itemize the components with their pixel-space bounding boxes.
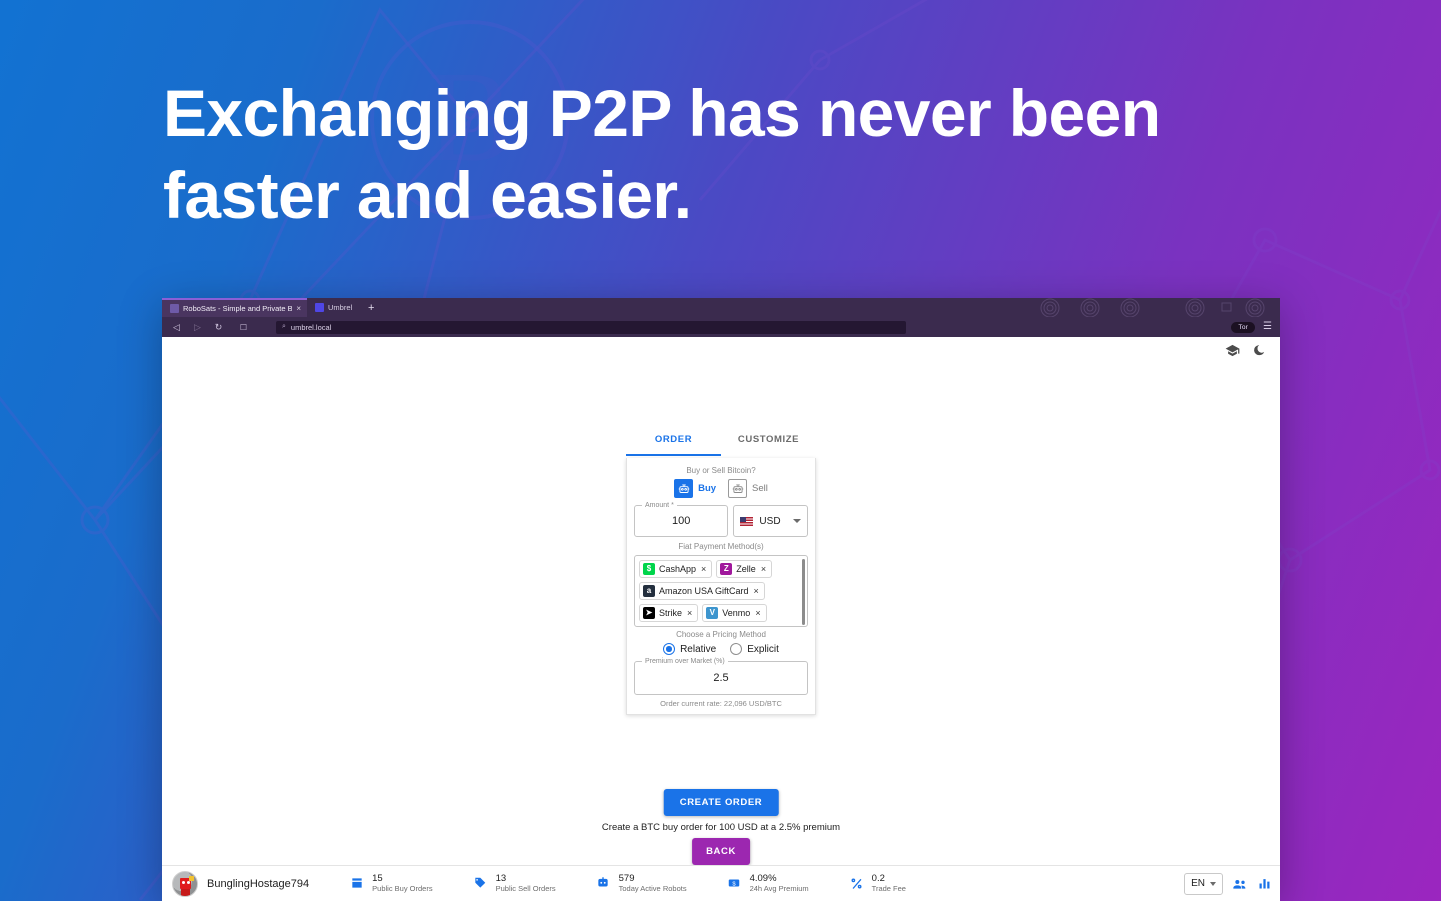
browser-tab-umbrel[interactable]: Umbrel — [307, 298, 358, 317]
new-tab-button[interactable]: + — [358, 298, 384, 317]
amount-input[interactable]: Amount * 100 — [634, 505, 728, 537]
chip-label: Zelle — [736, 564, 756, 574]
currency-value: USD — [759, 516, 780, 527]
radio-label: Relative — [680, 644, 716, 655]
radio-relative[interactable]: Relative — [663, 643, 716, 655]
venmo-icon: V — [706, 607, 718, 619]
pricing-method-radio-group: Relative Explicit — [634, 643, 808, 655]
create-order-hint: Create a BTC buy order for 100 USD at a … — [602, 822, 840, 833]
browser-tab-title: Umbrel — [328, 303, 352, 312]
tab-customize[interactable]: CUSTOMIZE — [721, 434, 816, 453]
forward-icon[interactable]: ▷ — [191, 321, 204, 334]
close-icon[interactable]: × — [296, 304, 301, 313]
payment-chip-strike[interactable]: ➤ Strike × — [639, 604, 698, 622]
browser-nav-bar: ◁ ▷ ↻ ☐ ⌕ umbrel.local Tor ☰ — [162, 317, 1280, 337]
stat-value: 0.2 — [872, 874, 906, 885]
amazon-icon: a — [643, 585, 655, 597]
stat-label: Trade Fee — [872, 885, 906, 894]
stat-avg-premium[interactable]: $ 4.09% 24h Avg Premium — [727, 874, 809, 894]
pricing-method-label: Choose a Pricing Method — [634, 630, 808, 639]
stat-active-robots[interactable]: 579 Today Active Robots — [596, 874, 687, 894]
browser-nav-right: Tor ☰ — [1231, 322, 1272, 333]
radio-explicit[interactable]: Explicit — [730, 643, 779, 655]
umbrel-favicon — [315, 303, 324, 312]
amount-row: Amount * 100 USD — [634, 505, 808, 537]
stat-public-sell-orders[interactable]: 13 Public Sell Orders — [473, 874, 556, 894]
reload-icon[interactable]: ↻ — [212, 321, 225, 334]
stat-public-buy-orders[interactable]: 15 Public Buy Orders — [349, 874, 432, 894]
chip-label: Strike — [659, 608, 682, 618]
remove-icon[interactable]: × — [761, 564, 766, 574]
chevron-down-icon — [793, 519, 801, 523]
buy-label: Buy — [698, 483, 716, 494]
sell-label: Sell — [752, 483, 768, 494]
stat-value: 13 — [496, 874, 556, 885]
app-top-icons — [1225, 343, 1266, 358]
robosats-favicon — [170, 304, 179, 313]
tor-badge[interactable]: Tor — [1231, 322, 1255, 333]
us-flag-icon — [740, 517, 753, 526]
remove-icon[interactable]: × — [754, 586, 759, 596]
radio-label: Explicit — [747, 644, 779, 655]
amount-legend: Amount * — [642, 501, 677, 510]
remove-icon[interactable]: × — [755, 608, 760, 618]
back-icon[interactable]: ◁ — [170, 321, 183, 334]
menu-icon[interactable]: ☰ — [1263, 323, 1272, 331]
hero-headline: Exchanging P2P has never been faster and… — [163, 72, 1183, 236]
stat-label: 24h Avg Premium — [750, 885, 809, 894]
window-decoration — [1030, 298, 1280, 317]
stat-label: Public Buy Orders — [372, 885, 432, 894]
stat-label: Public Sell Orders — [496, 885, 556, 894]
language-select[interactable]: EN — [1184, 873, 1223, 895]
robot-icon — [596, 876, 611, 891]
payment-chip-amazon[interactable]: a Amazon USA GiftCard × — [639, 582, 765, 600]
page-root: B Exchanging P2P has never been faster a… — [0, 0, 1441, 901]
avatar[interactable] — [172, 871, 198, 897]
back-button[interactable]: BACK — [692, 838, 750, 865]
payment-chip-zelle[interactable]: Z Zelle × — [716, 560, 772, 578]
premium-value: 2.5 — [713, 672, 728, 684]
language-value: EN — [1191, 878, 1205, 889]
buy-sell-label: Buy or Sell Bitcoin? — [634, 466, 808, 475]
remove-icon[interactable]: × — [687, 608, 692, 618]
create-order-button[interactable]: CREATE ORDER — [664, 789, 779, 816]
premium-legend: Premium over Market (%) — [642, 657, 728, 666]
strike-icon: ➤ — [643, 607, 655, 619]
buy-option[interactable]: Buy — [674, 479, 716, 498]
app-tab-bar: ORDER CUSTOMIZE — [626, 434, 816, 453]
nickname: BunglingHostage794 — [207, 878, 309, 890]
zelle-icon: Z — [720, 563, 732, 575]
premium-input[interactable]: Premium over Market (%) 2.5 — [634, 661, 808, 695]
radio-dot-icon — [730, 643, 742, 655]
radio-dot-icon — [663, 643, 675, 655]
bookmark-icon[interactable]: ☐ — [237, 321, 250, 334]
active-tab-indicator — [626, 454, 816, 456]
robot-buy-icon — [674, 479, 693, 498]
learn-icon[interactable] — [1225, 343, 1240, 358]
chip-label: Venmo — [722, 608, 750, 618]
stat-value: 579 — [619, 874, 687, 885]
book-icon — [349, 876, 364, 891]
currency-select[interactable]: USD — [733, 505, 808, 537]
price-tag-icon: $ — [727, 876, 742, 891]
percent-icon — [849, 876, 864, 891]
chip-label: Amazon USA GiftCard — [659, 586, 749, 596]
tag-icon — [473, 876, 488, 891]
payment-chip-venmo[interactable]: V Venmo × — [702, 604, 766, 622]
chip-label: CashApp — [659, 564, 696, 574]
browser-window: RoboSats - Simple and Private Bit × Umbr… — [162, 298, 1280, 901]
address-bar[interactable]: ⌕ umbrel.local — [276, 321, 906, 334]
amount-value: 100 — [672, 515, 690, 527]
browser-tab-title: RoboSats - Simple and Private Bit — [183, 304, 292, 313]
search-icon: ⌕ — [282, 323, 286, 331]
people-icon[interactable] — [1232, 876, 1248, 892]
stat-label: Today Active Robots — [619, 885, 687, 894]
status-bar: BunglingHostage794 15 Public Buy Orders — [162, 865, 1280, 901]
order-form-card: Buy or Sell Bitcoin? Buy — [626, 458, 816, 715]
remove-icon[interactable]: × — [701, 564, 706, 574]
dark-mode-icon[interactable] — [1252, 344, 1266, 358]
cashapp-icon: $ — [643, 563, 655, 575]
stats-icon[interactable] — [1257, 876, 1272, 891]
chevron-down-icon — [1210, 882, 1216, 886]
robot-sell-icon — [728, 479, 747, 498]
stat-trade-fee[interactable]: 0.2 Trade Fee — [849, 874, 906, 894]
app-page: ORDER CUSTOMIZE Buy or Sell Bitcoin? — [162, 337, 1280, 901]
sell-option[interactable]: Sell — [728, 479, 768, 498]
payment-methods-scrollbar[interactable] — [802, 559, 805, 625]
status-bar-right: EN — [1184, 873, 1272, 895]
stat-value: 15 — [372, 874, 432, 885]
payment-chip-cashapp[interactable]: $ CashApp × — [639, 560, 712, 578]
payment-methods-label: Fiat Payment Method(s) — [634, 542, 808, 551]
order-current-rate: Order current rate: 22,096 USD/BTC — [634, 699, 808, 708]
buy-sell-toggle: Buy Sell — [634, 479, 808, 498]
tab-order[interactable]: ORDER — [626, 434, 721, 453]
browser-tab-robosats[interactable]: RoboSats - Simple and Private Bit × — [162, 298, 307, 317]
tab-strip-spacer — [384, 298, 1030, 317]
browser-tab-strip: RoboSats - Simple and Private Bit × Umbr… — [162, 298, 1280, 317]
address-bar-url: umbrel.local — [291, 323, 331, 332]
payment-methods-box[interactable]: $ CashApp × Z Zelle × a Amazon USA GiftC… — [634, 555, 808, 627]
stat-value: 4.09% — [750, 874, 809, 885]
